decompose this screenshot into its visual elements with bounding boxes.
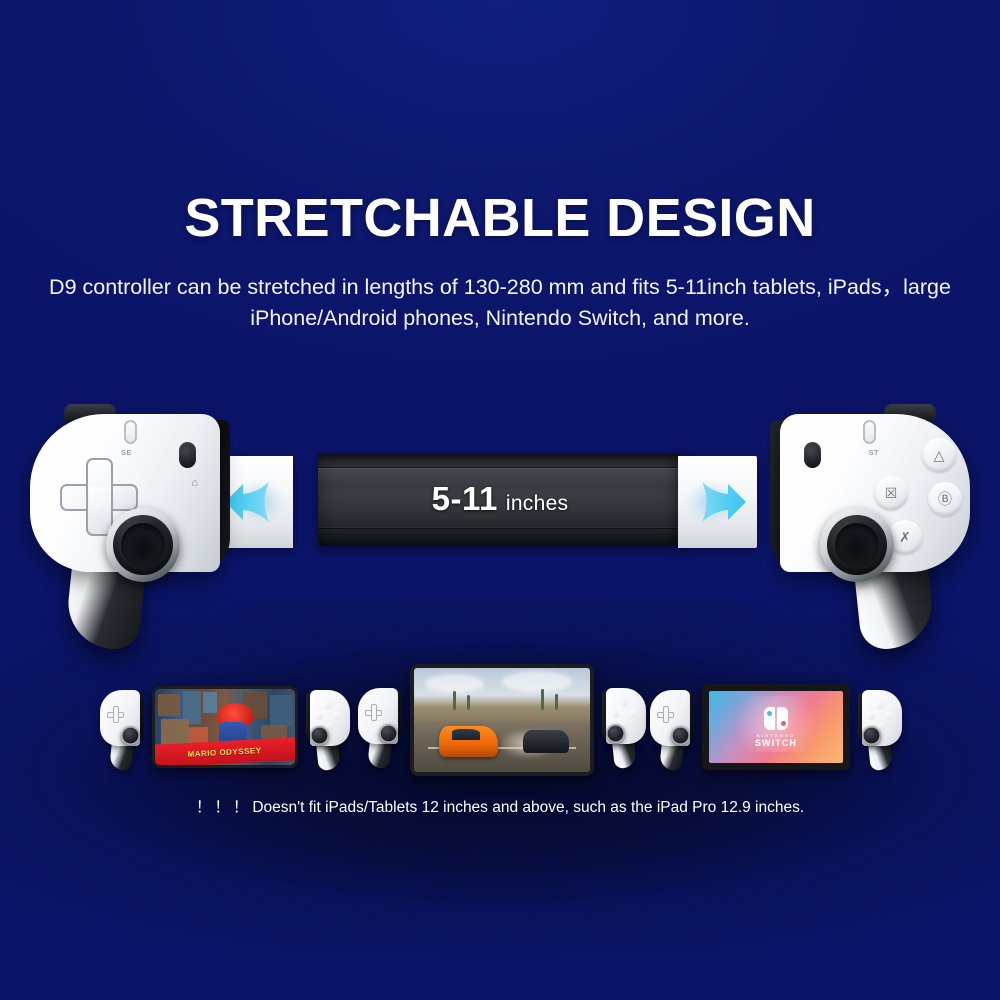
- tablet-screen: [414, 668, 590, 772]
- mini-square-button: [611, 710, 619, 718]
- mario-odyssey-artwork: MARIO ODYSSEY: [155, 689, 295, 765]
- device-combo-phone: MARIO ODYSSEY: [100, 672, 350, 782]
- bridge-size-value: 5-11: [432, 480, 498, 517]
- warning-exclamations: ！！！: [196, 799, 252, 816]
- page-subtitle: D9 controller can be stretched in length…: [0, 272, 1000, 333]
- mini-analog-stick: [606, 724, 625, 743]
- switch-logo-artwork: NINTENDO SWITCH: [709, 691, 843, 763]
- joycon-left-icon: [764, 707, 775, 730]
- dpad-center: [89, 487, 111, 509]
- compatibility-warning: ！！！Doesn't fit iPads/Tablets 12 inches a…: [0, 798, 1000, 818]
- switch-logo-line2: SWITCH: [755, 738, 797, 748]
- mini-analog-stick: [671, 726, 690, 745]
- mini-circle-button: [629, 710, 637, 718]
- left-stick-dish: [121, 523, 165, 567]
- mini-circle-button: [885, 712, 893, 720]
- device-combo-switch: NINTENDO SWITCH: [650, 672, 902, 782]
- bridge-size-label: 5-11inches: [318, 480, 682, 518]
- mini-dpad-icon: [107, 706, 124, 723]
- phone-device: MARIO ODYSSEY: [152, 686, 298, 768]
- switch-screen: NINTENDO SWITCH: [709, 691, 843, 763]
- left-oval-button[interactable]: [179, 442, 196, 468]
- home-icon[interactable]: ⌂: [191, 478, 198, 489]
- nintendo-switch-icon: [764, 707, 788, 730]
- start-button-label: ST: [869, 448, 879, 457]
- race-car-dark: [523, 730, 569, 753]
- joycon-right-icon: [777, 707, 788, 730]
- mini-analog-stick: [379, 724, 398, 743]
- page-title: STRETCHABLE DESIGN: [0, 191, 1000, 245]
- right-stick-dish: [835, 523, 879, 567]
- select-button[interactable]: [124, 420, 137, 444]
- switch-logo-line1: NINTENDO: [755, 733, 797, 738]
- mini-triangle-button: [620, 699, 628, 707]
- left-analog-stick[interactable]: [106, 508, 180, 582]
- mini-dpad-v: [371, 704, 378, 721]
- circle-glyph: Ⓑ: [938, 492, 952, 506]
- mini-triangle-button: [324, 701, 332, 709]
- mini-analog-stick: [121, 726, 140, 745]
- circle-button[interactable]: Ⓑ: [928, 482, 962, 516]
- bridge-seam-top: [318, 467, 682, 468]
- mini-triangle-button: [876, 701, 884, 709]
- mini-dpad-v: [113, 706, 120, 723]
- arrow-right-icon: [701, 480, 747, 524]
- start-button[interactable]: [863, 420, 876, 444]
- mini-analog-stick: [310, 726, 329, 745]
- triangle-button[interactable]: △: [922, 438, 956, 472]
- mini-controller-left: [358, 688, 402, 764]
- right-analog-stick[interactable]: [820, 508, 894, 582]
- mini-controller-right: [306, 690, 350, 766]
- bridge-seam-bottom: [318, 528, 682, 529]
- controller-hero-image: 5-11inches: [0, 398, 1000, 648]
- background-bottom-fade: [0, 940, 1000, 1000]
- warning-text: Doesn't fit iPads/Tablets 12 inches and …: [252, 799, 804, 816]
- device-combo-tablet: [358, 660, 646, 770]
- switch-wordmark: NINTENDO SWITCH: [755, 733, 797, 748]
- race-car-orange: [439, 726, 499, 757]
- right-oval-button[interactable]: [804, 442, 821, 468]
- phone-screen: MARIO ODYSSEY: [155, 689, 295, 765]
- mini-controller-right: [858, 690, 902, 766]
- stretch-bridge: 5-11inches: [318, 454, 682, 546]
- mini-square-button: [867, 712, 875, 720]
- controller-left-half: SE ⌂: [18, 398, 248, 648]
- select-button-label: SE: [121, 448, 132, 457]
- mini-controller-left: [100, 690, 144, 766]
- square-button[interactable]: ☒: [874, 476, 908, 510]
- mini-controller-left: [650, 690, 694, 766]
- cross-glyph: ✗: [899, 530, 911, 544]
- square-glyph: ☒: [885, 486, 898, 500]
- bridge-size-unit: inches: [506, 492, 569, 515]
- mini-circle-button: [333, 712, 341, 720]
- mini-dpad-icon: [657, 706, 674, 723]
- compatible-devices-row: MARIO ODYSSEY: [0, 660, 1000, 780]
- controller-right-half: ST △ ☒ Ⓑ ✗: [752, 398, 982, 648]
- tablet-device: [410, 664, 594, 776]
- mini-dpad-icon: [365, 704, 382, 721]
- mini-controller-right: [602, 688, 646, 764]
- mini-square-button: [315, 712, 323, 720]
- poster-stage: STRETCHABLE DESIGN D9 controller can be …: [0, 0, 1000, 1000]
- slider-rail-right: [678, 456, 757, 548]
- mini-analog-stick: [862, 726, 881, 745]
- triangle-glyph: △: [934, 448, 945, 462]
- switch-device: NINTENDO SWITCH: [702, 684, 850, 770]
- mini-dpad-v: [663, 706, 670, 723]
- racing-game-artwork: [414, 668, 590, 772]
- mario-game-title: MARIO ODYSSEY: [188, 746, 262, 759]
